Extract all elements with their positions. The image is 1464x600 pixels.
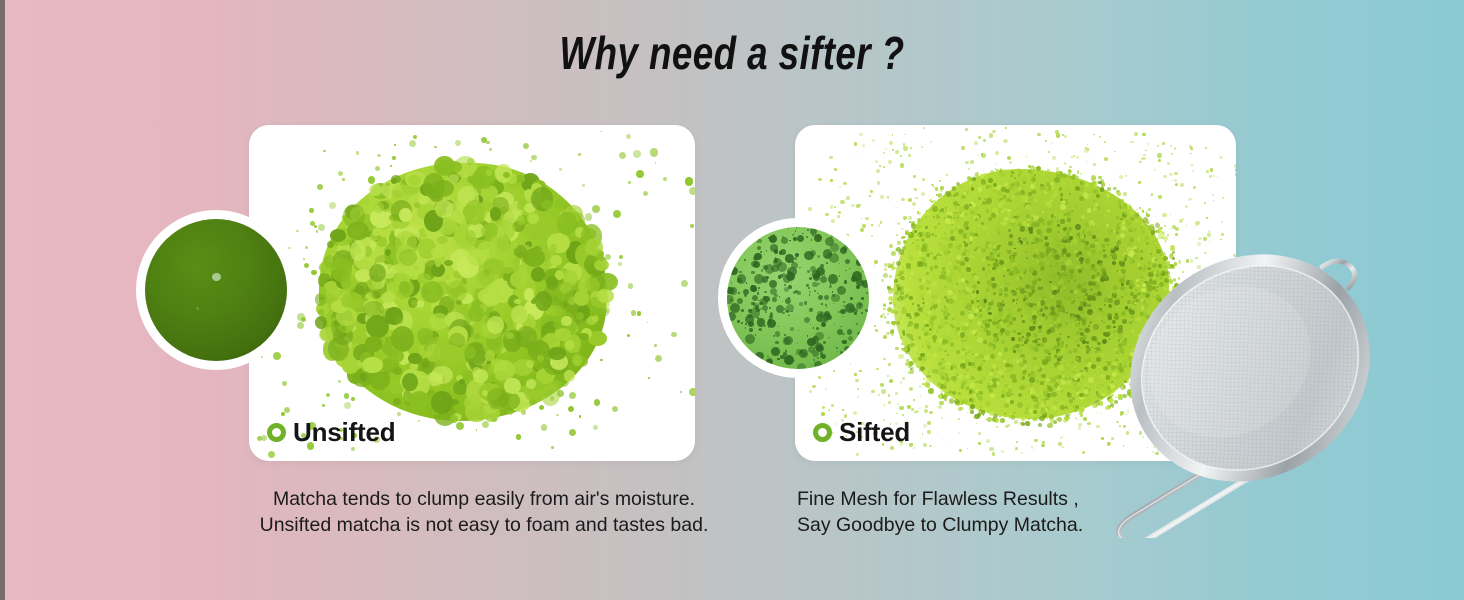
- sifted-matcha-photo: [865, 143, 1210, 443]
- sieve-hook: [1322, 261, 1355, 288]
- matcha-dusting: [893, 169, 1169, 419]
- caption-unsifted: Matcha tends to clump easily from air's …: [249, 486, 719, 538]
- matcha-mound: [319, 163, 607, 421]
- card-label-text: Unsifted: [293, 419, 395, 445]
- unsifted-matcha-photo: [303, 141, 643, 441]
- left-edge-strip: [0, 0, 5, 600]
- liquid-microdot: [196, 307, 199, 310]
- card-label-unsifted: Unsifted: [267, 419, 395, 445]
- frothy-matcha-disc: [727, 227, 869, 369]
- card-label-sifted: Sifted: [813, 419, 910, 445]
- matcha-liquid-circle-inset: [136, 210, 296, 370]
- card-label-text: Sifted: [839, 419, 910, 445]
- page-title: Why need a sifter ?: [146, 26, 1317, 80]
- green-ring-icon: [267, 423, 286, 442]
- matcha-liquid-disc: [145, 219, 287, 361]
- frothy-matcha-circle-inset: [718, 218, 878, 378]
- green-ring-icon: [813, 423, 832, 442]
- caption-sifted: Fine Mesh for Flawless Results , Say Goo…: [797, 486, 1267, 538]
- comparison-card-unsifted: Unsifted: [249, 125, 695, 461]
- liquid-highlight: [212, 273, 221, 281]
- promo-banner: Why need a sifter ? Unsifted Sifted: [0, 0, 1464, 600]
